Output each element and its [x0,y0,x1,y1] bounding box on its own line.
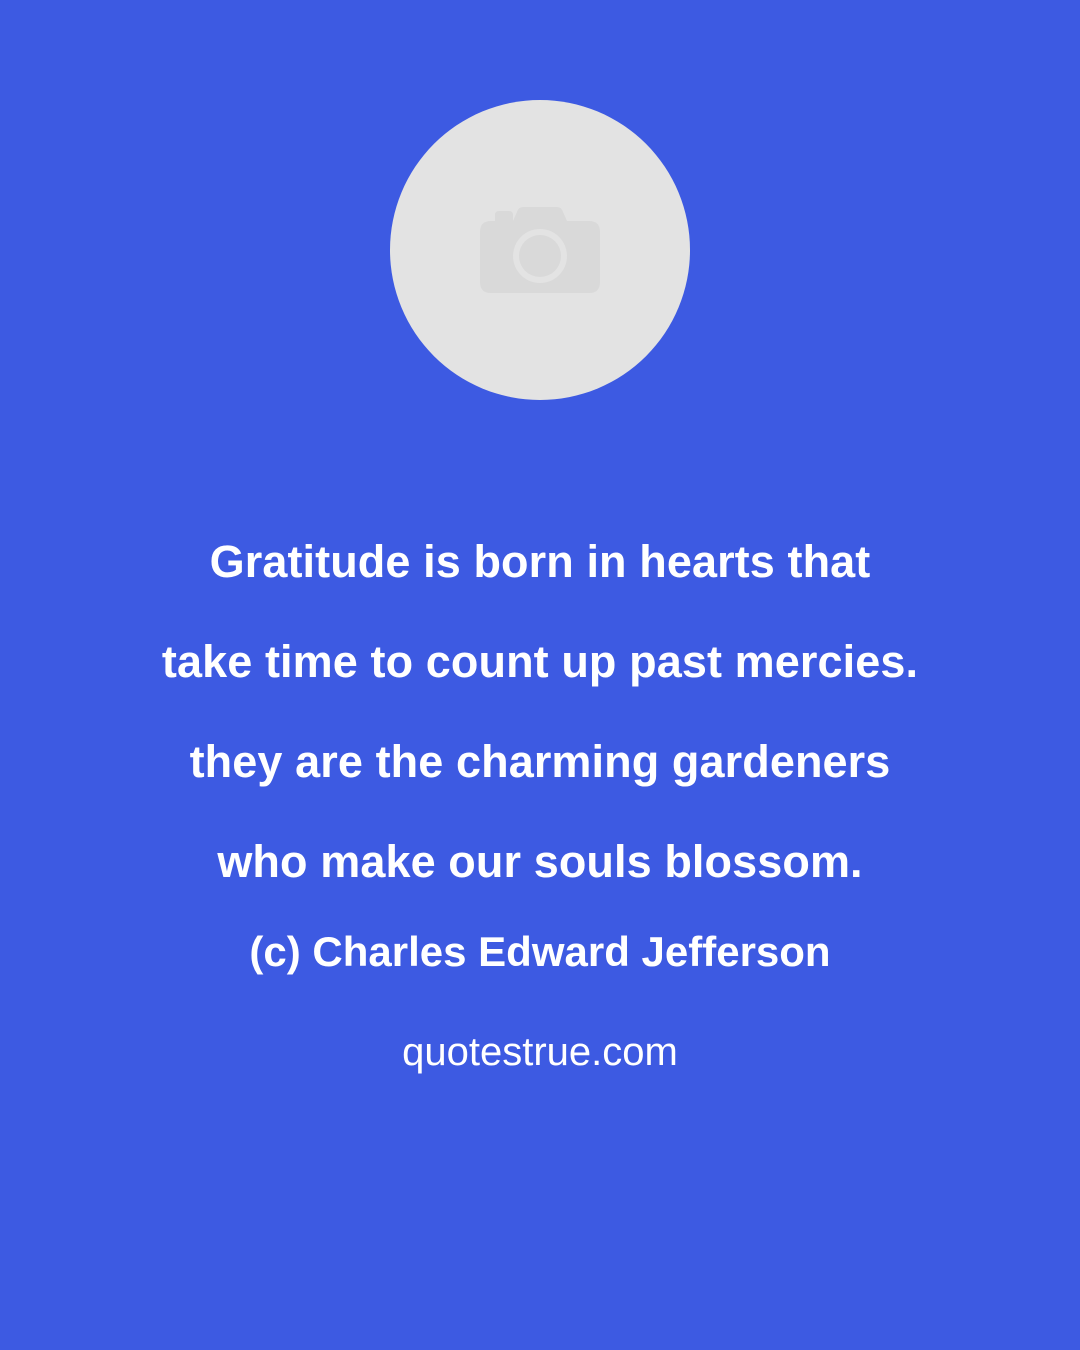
camera-icon [479,206,601,294]
quote-line: who make our souls blossom. [60,812,1020,912]
quote-line: they are the charming gardeners [60,712,1020,812]
quote-text: Gratitude is born in hearts that take ti… [60,512,1020,912]
quote-line: take time to count up past mercies. [60,612,1020,712]
site-url: quotestrue.com [60,1012,1020,1092]
quote-attribution: (c) Charles Edward Jefferson [60,912,1020,992]
quote-card: Gratitude is born in hearts that take ti… [0,0,1080,1350]
quote-line: Gratitude is born in hearts that [60,512,1020,612]
avatar [390,100,690,400]
